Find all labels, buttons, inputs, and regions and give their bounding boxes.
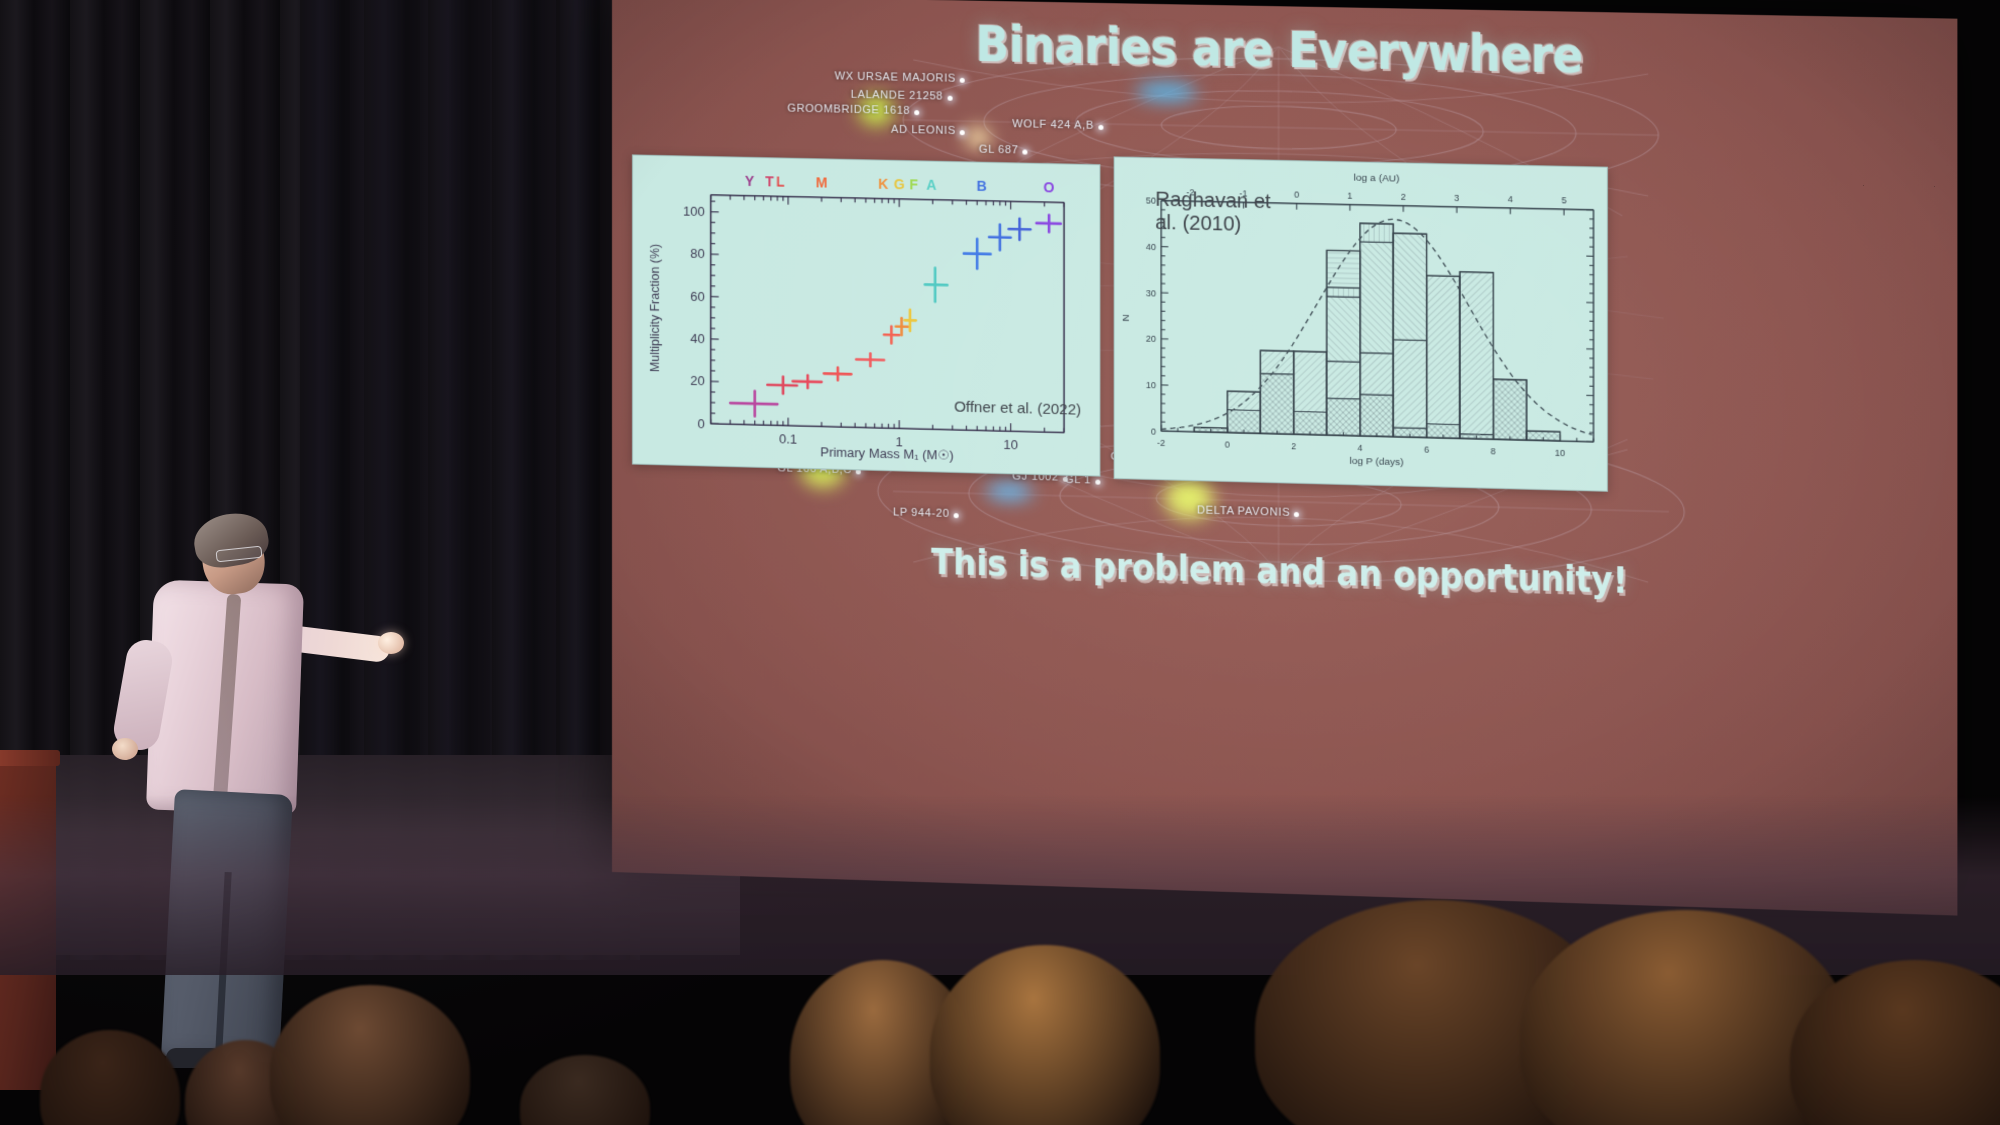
histogram-bar [1527,431,1560,441]
data-point-errorbar [989,224,1011,250]
photo-canvas: WX URSAE MAJORISLALANDE 21258GROOMBRIDGE… [0,0,2000,1125]
data-point-errorbar [1036,215,1060,233]
spectral-type-label: K [878,175,888,191]
data-point-errorbar [824,367,851,380]
x-tick-label: 6 [1424,445,1429,455]
x-tick-label: 0.1 [779,431,797,446]
y-tick-label: 40 [690,331,704,346]
speaker-left-hand [112,738,138,760]
citation-raghavan: Raghavan etal. (2010) [1155,189,1271,238]
star-dot [948,96,953,101]
star-dot [954,513,959,518]
offner-scatter-svg: 020406080100 0.1110 YTLMKGFABO Multiplic… [633,155,1099,475]
star-dot [1022,149,1027,154]
star-label: WX URSAE MAJORIS [835,70,956,84]
y-tick-label: 40 [1146,242,1156,252]
star-label: AD LEONIS [891,124,956,137]
star-dot [1294,512,1299,517]
citation-offner: Offner et al. (2022) [954,398,1081,418]
histogram-bar [1194,427,1227,432]
histogram-bar [1294,351,1327,435]
top-x-tick-label: 5 [1561,195,1566,205]
spectral-type-label: L [776,173,785,189]
y-tick-label: 0 [1151,426,1156,436]
y-tick-label: 80 [690,246,704,261]
data-point-errorbar [884,326,899,343]
y-tick-label: 30 [1146,288,1156,298]
x-tick-label: -2 [1157,438,1165,448]
star-dot [914,110,919,115]
histogram-bar [1460,272,1493,440]
star-dot [1095,480,1100,485]
data-point-errorbar [767,376,797,394]
podium-top-surface [0,750,60,766]
y-tick-label: 100 [683,204,705,219]
histogram-bar [1360,223,1393,437]
spectral-type-label: G [894,176,905,192]
histogram-bar [1427,276,1460,439]
star-label: DELTA PAVONIS [1197,504,1290,519]
figure-panel-raghavan: 01020304050 -20246810 -2-1012345 [1114,156,1608,491]
histogram-bar [1260,350,1293,434]
star-label: LALANDE 21258 [851,89,943,103]
top-x-tick-label: 3 [1454,193,1459,203]
data-point-errorbar [730,390,777,417]
figure-panel-offner: 020406080100 0.1110 YTLMKGFABO Multiplic… [632,154,1100,476]
top-x-tick-label: 2 [1401,192,1406,202]
histogram-bar [1393,233,1426,437]
star-dot [960,78,965,83]
y-tick-label: 60 [690,289,704,304]
star-label: LP 944-20 [893,506,949,520]
x-tick-label: 2 [1291,441,1296,451]
data-point-errorbar [1009,218,1031,240]
data-point-errorbar [925,268,947,303]
x-axis-label: Primary Mass M₁ (M☉) [820,444,953,462]
star-dot [960,130,965,135]
x-tick-label: 10 [1555,448,1565,458]
top-x-tick-label: 4 [1508,194,1513,204]
y-axis-label: N [1121,314,1132,322]
data-point-errorbar [856,353,884,366]
speaker-right-hand [378,632,404,654]
x-tick-label: 10 [1003,437,1018,452]
y-axis-label: Multiplicity Fraction (%) [648,244,662,373]
x-tick-label: 4 [1357,443,1362,453]
spectral-type-label: T [765,173,774,189]
spectral-type-label: B [977,178,987,194]
data-point-errorbar [964,239,991,269]
star-dot [1098,125,1103,130]
star-label: GROOMBRIDGE 1618 [787,103,910,118]
top-x-tick-label: 0 [1294,189,1299,199]
histogram-bar [1227,391,1260,433]
top-x-axis-label: log a (AU) [1354,172,1400,184]
x-axis-label: log P (days) [1350,456,1404,469]
y-tick-label: 10 [1146,380,1156,390]
spectral-type-label: Y [745,173,755,189]
projection-screen: WX URSAE MAJORISLALANDE 21258GROOMBRIDGE… [612,0,1957,916]
star-label: WOLF 424 A,B [1012,118,1094,132]
top-x-tick-label: 1 [1347,190,1352,200]
y-tick-label: 0 [698,416,705,431]
spectral-type-label: A [926,176,936,192]
x-tick-label: 0 [1225,440,1230,450]
x-tick-label: 8 [1491,446,1496,456]
spectral-type-label: M [816,174,828,190]
spectral-type-label: F [909,176,918,192]
histogram-bar [1327,250,1360,436]
star-label: GL 687 [979,144,1019,157]
y-tick-label: 20 [690,373,704,388]
spectral-type-label: O [1044,179,1055,195]
y-tick-label: 20 [1146,334,1156,344]
